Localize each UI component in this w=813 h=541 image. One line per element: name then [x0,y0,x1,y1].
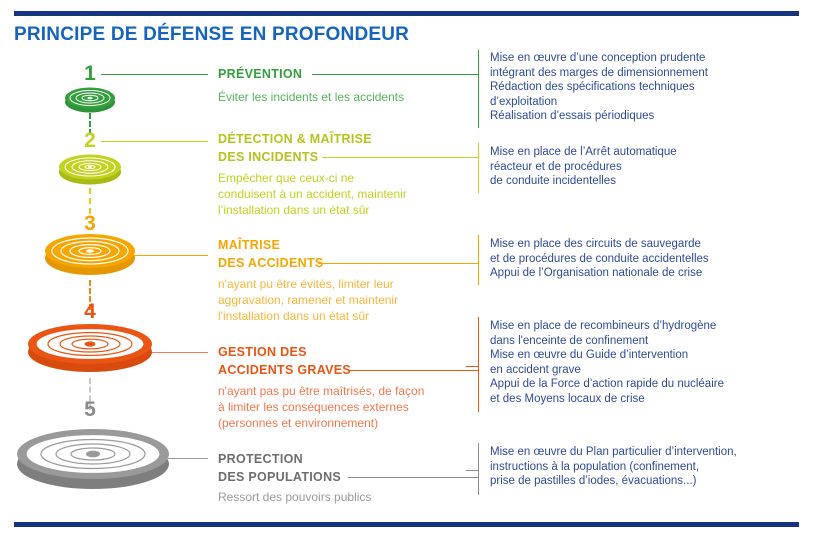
measure-tick-2 [466,157,478,158]
measure-tick-4 [466,366,478,367]
level-heading-5-line2: DES POPULATIONS [218,470,341,485]
level-heading-5-line1: PROTECTION [218,452,303,467]
measure-list-4: Mise en place de recombineurs d’hydrogèn… [490,319,800,407]
disc-icon-1 [58,85,122,115]
level-heading-3-line2: DES ACCIDENTS [218,256,324,271]
lead-line-4 [152,352,208,353]
measure-list-2: Mise en place de l’Arrêt automatique réa… [490,145,800,189]
measure-bracket-2 [478,143,479,193]
lead-line-5 [168,458,208,459]
measure-list-5: Mise en œuvre du Plan particulier d’inte… [490,445,805,489]
heading-rule-4 [348,370,478,371]
level-heading-2-line1: DÉTECTION & MAÎTRISE [218,132,372,147]
measure-list-3: Mise en place des circuits de sauvegarde… [490,237,800,281]
disc-icon-4 [20,320,160,378]
disc-icon-2 [54,152,126,188]
heading-rule-3 [318,263,478,264]
level-description-4: n'ayant pas pu être maîtrisés, de façon … [218,383,468,431]
level-heading-3-line1: MAÎTRISE [218,238,280,253]
level-description-2: Empêcher que ceux-ci ne conduisent à un … [218,170,453,218]
level-number-5: 5 [70,398,110,422]
level-heading-4-line1: GESTION DES [218,345,307,360]
level-description-3: n'ayant pu être évités, limiter leur agg… [218,276,458,324]
lead-line-2 [101,141,208,142]
disc-icon-3 [39,232,141,280]
level-description-5: Ressort des pouvoirs publics [218,489,468,505]
measure-bracket-4 [478,317,479,412]
level-description-1: Éviter les incidents et les accidents [218,89,463,105]
lead-line-3 [133,255,208,256]
lead-line-1 [101,74,208,75]
measure-list-1: Mise en œuvre d’une conception prudente … [490,51,800,124]
measure-tick-3 [466,263,478,264]
level-heading-4-line2: ACCIDENTS GRAVES [218,363,351,378]
connector-2-3 [89,188,91,214]
heading-rule-1 [312,74,478,75]
defense-in-depth-diagram: 1 PRÉVENTION Éviter les incidents et les… [0,0,813,541]
level-heading-1: PRÉVENTION [218,67,302,82]
measure-bracket-1 [478,50,479,128]
measure-bracket-5 [478,443,479,495]
heading-rule-2 [322,157,478,158]
disc-icon-5 [8,424,178,496]
measure-tick-5 [466,470,478,471]
measure-tick-1 [466,74,478,75]
heading-rule-5 [348,477,478,478]
measure-bracket-3 [478,235,479,285]
level-heading-2-line2: DES INCIDENTS [218,150,318,165]
